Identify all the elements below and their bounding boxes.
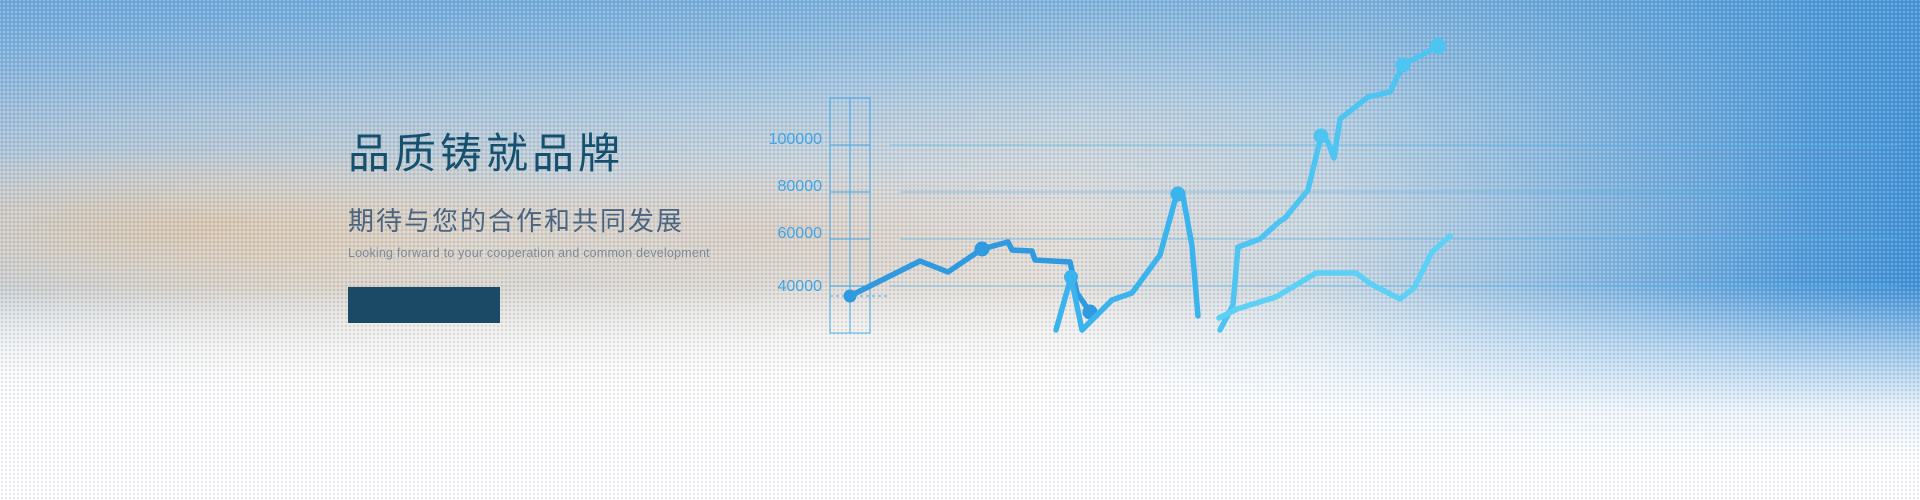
hero-banner: 品质铸就品牌 期待与您的合作和共同发展 Looking forward to y… bbox=[0, 0, 1920, 500]
chart-svg: 100000 80000 60000 40000 bbox=[760, 0, 1920, 500]
y-tick-label: 80000 bbox=[778, 178, 823, 195]
banner-copy: 品质铸就品牌 期待与您的合作和共同发展 Looking forward to y… bbox=[348, 128, 818, 323]
cta-button[interactable] bbox=[348, 287, 500, 323]
line-chart: 100000 80000 60000 40000 bbox=[760, 0, 1920, 500]
y-tick-label: 60000 bbox=[778, 225, 823, 242]
series-line-4 bbox=[1219, 236, 1450, 318]
series-line-1 bbox=[844, 242, 1098, 320]
subtitle-en: Looking forward to your cooperation and … bbox=[348, 246, 818, 261]
series-line-2 bbox=[1056, 187, 1198, 331]
y-tick-label: 100000 bbox=[769, 131, 822, 148]
y-tick-label: 40000 bbox=[778, 278, 823, 295]
grid-lines bbox=[890, 145, 1900, 286]
subtitle-cn: 期待与您的合作和共同发展 bbox=[348, 206, 818, 237]
y-axis-ticks: 100000 80000 60000 40000 bbox=[769, 131, 822, 295]
page-title: 品质铸就品牌 bbox=[348, 128, 818, 180]
